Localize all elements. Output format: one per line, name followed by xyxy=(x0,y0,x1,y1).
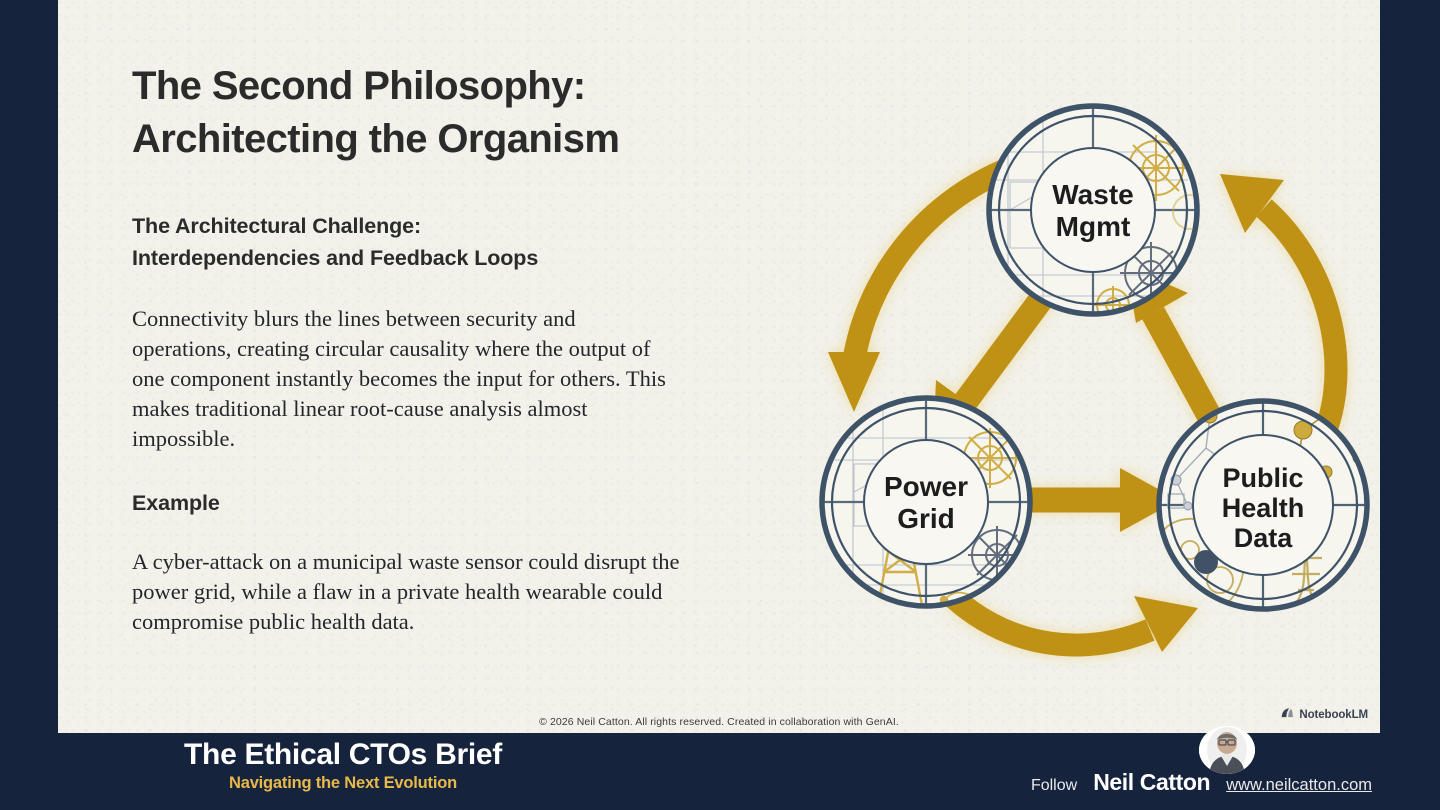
text-column: The Second Philosophy: Architecting the … xyxy=(132,60,732,636)
node-label-health-line3: Data xyxy=(1234,523,1294,553)
website-link[interactable]: www.neilcatton.com xyxy=(1226,776,1372,795)
node-label-health-line1: Public xyxy=(1222,463,1303,493)
interdependency-cycle-diagram: Waste Mgmt xyxy=(758,60,1380,680)
node-label-health-line2: Health xyxy=(1222,493,1305,523)
example-heading: Example xyxy=(132,491,732,516)
body-paragraph: Connectivity blurs the lines between sec… xyxy=(132,304,680,454)
slide-canvas: The Second Philosophy: Architecting the … xyxy=(58,0,1380,733)
brand-block: The Ethical CTOs Brief Navigating the Ne… xyxy=(163,737,523,793)
brand-tagline: Navigating the Next Evolution xyxy=(163,774,523,793)
follow-block: Follow Neil Catton www.neilcatton.com xyxy=(1031,769,1372,796)
node-label-waste-line1: Waste xyxy=(1052,179,1133,210)
arrow-power-to-health-curved xyxy=(954,596,1198,652)
avatar xyxy=(1199,726,1255,774)
brand-title: The Ethical CTOs Brief xyxy=(163,737,523,773)
author-name: Neil Catton xyxy=(1093,769,1210,796)
page-title: The Second Philosophy: Architecting the … xyxy=(132,60,732,166)
notebooklm-icon xyxy=(1280,706,1294,723)
section-subheading: The Architectural Challenge: Interdepend… xyxy=(132,210,732,275)
node-label-power-line1: Power xyxy=(884,471,968,502)
node-label-power-line2: Grid xyxy=(897,503,955,534)
footer-bar: The Ethical CTOs Brief Navigating the Ne… xyxy=(0,733,1440,810)
notebooklm-badge: NotebookLM xyxy=(1280,706,1368,723)
copyright-notice: © 2026 Neil Catton. All rights reserved.… xyxy=(58,716,1380,728)
example-paragraph: A cyber-attack on a municipal waste sens… xyxy=(132,547,680,637)
follow-label: Follow xyxy=(1031,777,1077,795)
diagram-node-power-grid[interactable]: Power Grid xyxy=(822,398,1030,619)
node-label-waste-line2: Mgmt xyxy=(1056,211,1131,242)
notebooklm-label: NotebookLM xyxy=(1299,709,1368,721)
